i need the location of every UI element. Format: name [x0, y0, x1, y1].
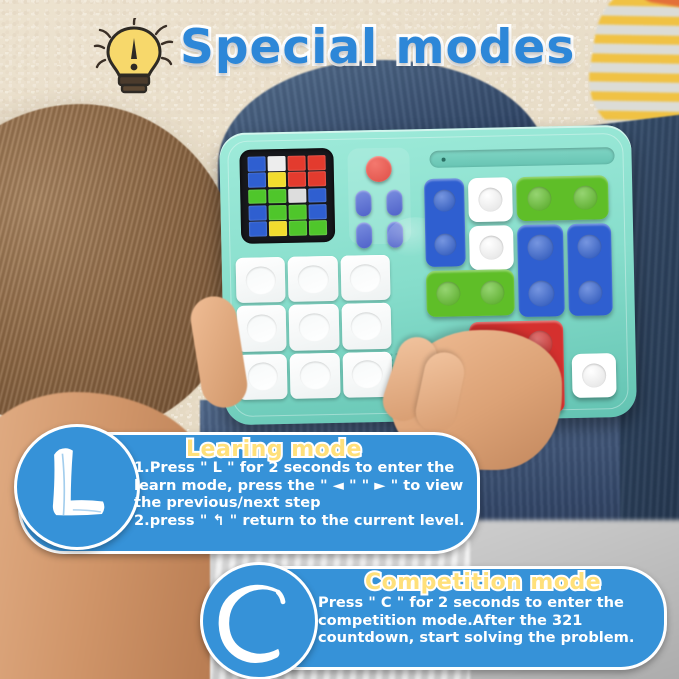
direction-button-up[interactable]	[355, 190, 372, 216]
lcd-cell-r3-c4	[308, 188, 327, 203]
page-title: Special modes	[180, 20, 600, 75]
infographic-canvas: Special modes Learing mode 1.Press " L "…	[0, 0, 679, 679]
lightbulb-idea-icon	[92, 18, 176, 96]
block-stud	[573, 185, 598, 210]
lcd-cell-r1-c3	[287, 156, 306, 171]
lcd-screen	[239, 148, 335, 244]
lcd-cell-r5-c3	[289, 221, 308, 236]
lcd-cell-r2-c1	[248, 173, 267, 188]
block-blue-square-b[interactable]	[567, 223, 613, 316]
keypad-key-2[interactable]	[288, 256, 338, 302]
competition-mode-badge	[200, 562, 318, 679]
block-white-second[interactable]	[469, 225, 514, 270]
lcd-cell-r4-c2	[268, 205, 287, 220]
letter-c-brush-icon	[211, 573, 307, 669]
power-button-red[interactable]	[366, 156, 393, 183]
block-stud	[433, 189, 456, 212]
block-stud	[577, 234, 602, 259]
page-title-row: Special modes	[0, 6, 679, 90]
block-green-horizontal-top[interactable]	[516, 175, 609, 221]
block-stud	[436, 281, 461, 306]
lcd-cell-r3-c2	[268, 189, 287, 204]
block-green-horizontal-bottom[interactable]	[426, 269, 515, 317]
keypad-3x3[interactable]	[236, 255, 393, 400]
keypad-key-1[interactable]	[236, 257, 286, 303]
lcd-cell-r1-c2	[267, 156, 286, 171]
block-stud	[479, 235, 504, 260]
block-blue-square-a[interactable]	[517, 224, 565, 317]
stylus-slot-dot	[442, 158, 446, 162]
lcd-cell-r1-c4	[307, 155, 326, 170]
lcd-color-grid	[247, 155, 327, 237]
block-stud	[434, 233, 457, 256]
keypad-key-8[interactable]	[290, 353, 340, 399]
block-stud	[528, 280, 554, 306]
lcd-cell-r3-c1	[248, 189, 267, 204]
block-stud	[480, 280, 505, 305]
block-blue-vertical[interactable]	[424, 178, 466, 267]
lcd-cell-r1-c1	[247, 156, 266, 171]
block-stud	[527, 234, 553, 260]
keypad-key-6[interactable]	[341, 303, 391, 349]
lcd-cell-r5-c1	[249, 222, 268, 237]
direction-button-left[interactable]	[356, 222, 373, 248]
learning-mode-body: 1.Press " L " for 2 seconds to enter the…	[134, 459, 470, 529]
lcd-cell-r2-c3	[288, 172, 307, 187]
direction-button-down[interactable]	[386, 190, 403, 216]
keypad-key-3[interactable]	[340, 255, 390, 301]
learning-mode-badge	[14, 424, 140, 550]
competition-mode-heading: Competition mode	[365, 570, 601, 595]
lcd-cell-r2-c4	[307, 171, 326, 186]
block-white-top[interactable]	[468, 177, 513, 222]
lcd-cell-r4-c4	[308, 204, 327, 219]
block-stud	[578, 280, 603, 305]
block-white-bottom-right[interactable]	[572, 353, 617, 398]
block-stud	[478, 187, 503, 212]
letter-l-brush-icon	[25, 435, 129, 539]
block-stud	[582, 363, 607, 388]
lcd-cell-r5-c4	[308, 220, 327, 235]
lcd-cell-r2-c2	[268, 172, 287, 187]
competition-mode-body: Press " C " for 2 seconds to enter the c…	[318, 594, 652, 647]
lcd-cell-r3-c3	[288, 188, 307, 203]
block-stud	[527, 186, 552, 211]
lcd-cell-r5-c2	[269, 221, 288, 236]
keypad-key-4[interactable]	[237, 305, 287, 351]
keypad-key-5[interactable]	[289, 304, 339, 350]
lcd-cell-r4-c3	[288, 204, 307, 219]
lcd-cell-r4-c1	[249, 205, 268, 220]
